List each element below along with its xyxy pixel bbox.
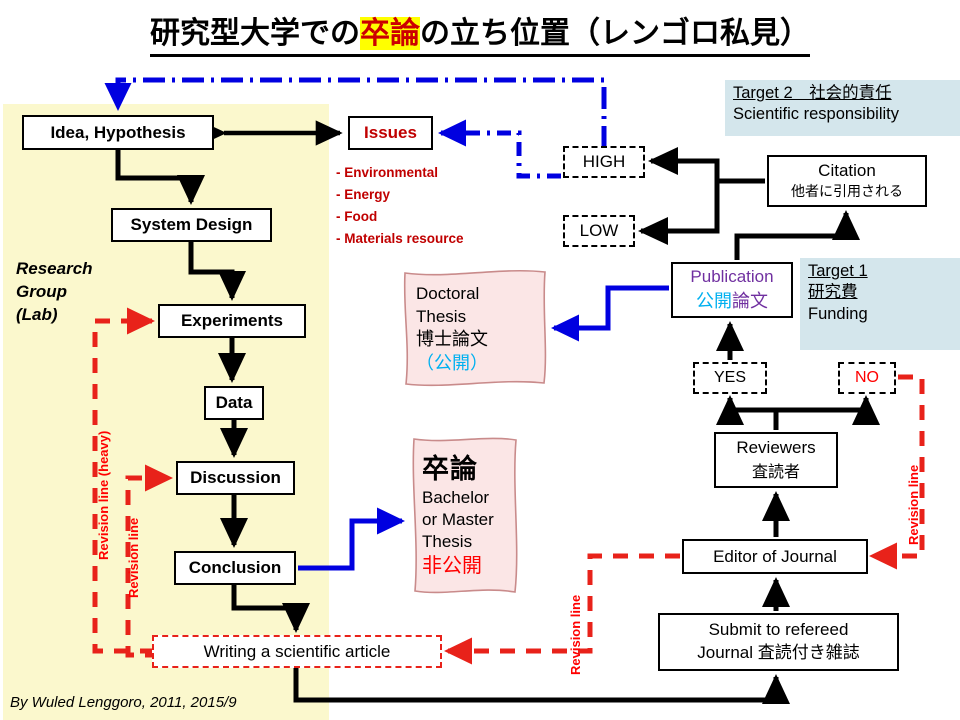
node-impact-high[interactable]: HIGH <box>563 146 645 178</box>
issues-list-item: - Food <box>336 206 536 228</box>
node-citation[interactable]: Citation 他者に引用される <box>767 155 927 207</box>
bachelor-line-3: or Master <box>422 509 523 531</box>
callout-target-1-jp: 研究費 <box>808 282 858 303</box>
node-experiments-label: Experiments <box>181 311 283 331</box>
title-highlight: 卒論 <box>360 17 420 50</box>
node-decision-no[interactable]: NO <box>838 362 896 394</box>
research-group-label-line-3: (Lab) <box>16 304 146 327</box>
node-impact-high-label: HIGH <box>583 152 626 172</box>
doctoral-line-2: Thesis <box>416 306 550 329</box>
node-publication-jp-open: 公開 <box>696 291 732 311</box>
node-impact-low[interactable]: LOW <box>563 215 635 247</box>
diagram-canvas: Doctoral Thesis 博士論文 （公開） 卒論 Bachelor or… <box>0 0 960 720</box>
node-publication-label-en: Publication <box>690 267 773 287</box>
node-conclusion-label: Conclusion <box>189 558 282 578</box>
node-issues[interactable]: Issues <box>348 116 433 150</box>
callout-target-1-sub: Funding <box>808 304 868 325</box>
node-idea-hypothesis[interactable]: Idea, Hypothesis <box>22 115 214 150</box>
node-editor-of-journal[interactable]: Editor of Journal <box>682 539 868 574</box>
doctoral-line-3: 博士論文 <box>416 328 550 352</box>
research-group-label-line-1: Research <box>16 258 146 281</box>
node-data-label: Data <box>216 393 253 413</box>
page-title: 研究型大学での卒論の立ち位置（レンゴロ私見） <box>0 8 960 57</box>
issues-list-item: - Environmental <box>336 162 536 184</box>
bachelor-line-2: Bachelor <box>422 487 523 509</box>
node-decision-no-label: NO <box>855 369 879 387</box>
node-impact-low-label: LOW <box>580 221 619 241</box>
node-decision-yes[interactable]: YES <box>693 362 767 394</box>
issues-list: - Environmental - Energy - Food - Materi… <box>336 162 536 249</box>
callout-target-2: Target 2 社会的責任 Scientific responsibility <box>725 80 960 136</box>
node-submit-to-journal[interactable]: Submit to refereed Journal 査読付き雑誌 <box>658 613 899 671</box>
callout-target-1-heading: Target 1 <box>808 261 868 282</box>
revision-line-middle-label: Revision line <box>568 595 583 675</box>
author-byline: By Wuled Lenggoro, 2011, 2015/9 <box>10 694 237 711</box>
node-discussion-label: Discussion <box>190 468 281 488</box>
revision-line-right-label: Revision line <box>906 465 921 545</box>
node-experiments[interactable]: Experiments <box>158 304 306 338</box>
node-publication[interactable]: Publication 公開論文 <box>671 262 793 318</box>
callout-target-1: Target 1 研究費 Funding <box>800 258 960 350</box>
node-reviewers-label-en: Reviewers <box>736 438 815 458</box>
doctoral-line-1: Doctoral <box>416 283 550 306</box>
node-editor-of-journal-label: Editor of Journal <box>713 547 837 567</box>
node-conclusion[interactable]: Conclusion <box>174 551 296 585</box>
doctoral-thesis-note: Doctoral Thesis 博士論文 （公開） <box>400 265 550 390</box>
title-part-2: の立ち位置（レンゴロ私見） <box>420 17 810 50</box>
bachelor-line-4: Thesis <box>422 531 523 553</box>
title-part-1: 研究型大学での <box>150 17 360 50</box>
node-idea-hypothesis-label: Idea, Hypothesis <box>50 123 185 143</box>
node-citation-label-jp: 他者に引用される <box>791 181 903 201</box>
node-reviewers[interactable]: Reviewers 査読者 <box>714 432 838 488</box>
issues-list-item: - Materials resource <box>336 228 536 250</box>
node-system-design-label: System Design <box>131 215 253 235</box>
node-submit-line-2: Journal 査読付き雑誌 <box>697 642 859 665</box>
revision-line-heavy-label: Revision line (heavy) <box>96 431 111 560</box>
node-discussion[interactable]: Discussion <box>176 461 295 495</box>
node-citation-label-en: Citation <box>818 161 876 181</box>
node-publication-label-jp: 公開論文 <box>696 287 768 313</box>
revision-line-left-label: Revision line <box>126 518 141 598</box>
research-group-panel <box>3 104 329 720</box>
callout-target-2-sub: Scientific responsibility <box>733 104 899 125</box>
bachelor-line-1: 卒論 <box>422 452 523 487</box>
issues-list-item: - Energy <box>336 184 536 206</box>
bachelor-thesis-note: 卒論 Bachelor or Master Thesis 非公開 <box>408 434 523 597</box>
doctoral-line-4: （公開） <box>416 352 550 376</box>
node-data[interactable]: Data <box>204 386 264 420</box>
node-decision-yes-label: YES <box>714 369 746 387</box>
research-group-label: Research Group (Lab) <box>16 258 146 327</box>
node-system-design[interactable]: System Design <box>111 208 272 242</box>
node-writing-article[interactable]: Writing a scientific article <box>152 635 442 668</box>
node-issues-label: Issues <box>364 123 417 143</box>
callout-target-2-heading: Target 2 社会的責任 <box>733 83 892 104</box>
node-writing-article-label: Writing a scientific article <box>204 642 391 662</box>
bachelor-line-5: 非公開 <box>422 553 523 579</box>
node-reviewers-label-jp: 査読者 <box>752 458 800 482</box>
research-group-label-line-2: Group <box>16 281 146 304</box>
node-submit-line-1: Submit to refereed <box>709 619 849 642</box>
node-publication-jp-paper: 論文 <box>732 291 768 311</box>
